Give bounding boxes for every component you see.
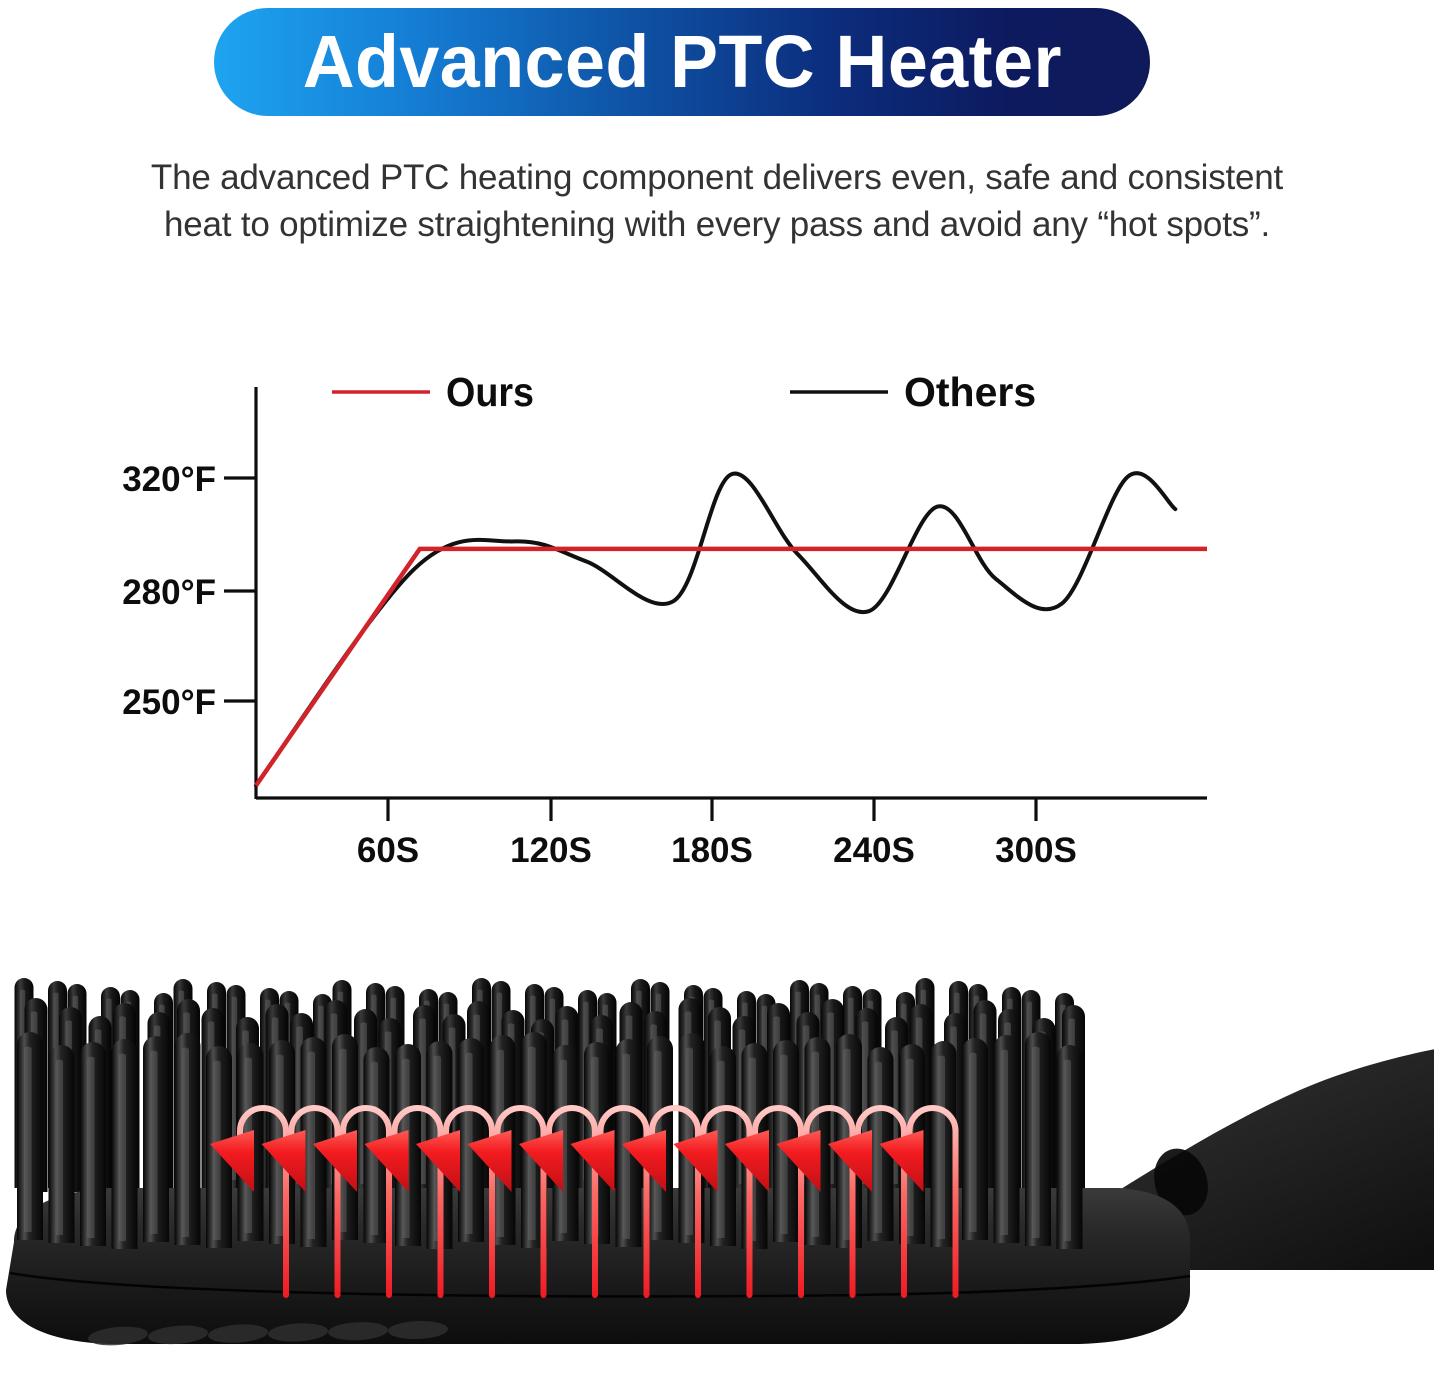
title-pill: Advanced PTC Heater (214, 8, 1150, 116)
bristle-highlight (969, 1053, 976, 1232)
x-axis-label-60s: 60S (357, 831, 419, 870)
bristle-highlight (56, 1060, 63, 1235)
bristle-highlight (308, 1052, 315, 1239)
x-axis-ticks: 60S 120S 180S 240S 300S (357, 798, 1077, 870)
legend-label-ours: Ours (446, 370, 534, 416)
series-line-others (256, 473, 1175, 785)
bristle-highlight (1064, 1060, 1071, 1241)
chart-legend: Ours Others (332, 369, 1036, 415)
legend-label-others: Others (904, 369, 1036, 415)
subtitle-line-1: The advanced PTC heating component deliv… (50, 155, 1384, 202)
bristle-highlight (119, 1054, 126, 1241)
bristle-highlight (24, 1047, 31, 1232)
x-axis-label-300s: 300S (995, 831, 1077, 870)
bristle-highlight (717, 1061, 724, 1238)
bristle-highlight (182, 1048, 189, 1237)
bristle-highlight (1032, 1047, 1039, 1238)
y-axis-ticks: 320°F 280°F 250°F (122, 460, 256, 722)
chart-axes (256, 387, 1207, 799)
product-photo-svg (0, 940, 1434, 1375)
chart-svg: Ours Others 320°F 280°F 250°F 60S 12 (0, 330, 1434, 890)
bristle-highlight (938, 1056, 945, 1239)
x-axis-label-120s: 120S (510, 831, 592, 870)
header-banner: Advanced PTC Heater (0, 0, 1434, 130)
page-title: Advanced PTC Heater (302, 25, 1061, 99)
y-axis-label-320: 320°F (122, 460, 216, 499)
bristle-highlight (875, 1062, 882, 1233)
bristle-highlight (150, 1051, 157, 1234)
bristle-highlight (1001, 1050, 1008, 1235)
y-axis-label-280: 280°F (122, 573, 216, 612)
subtitle-line-2: heat to optimize straightening with ever… (50, 202, 1384, 249)
temperature-comparison-chart: Ours Others 320°F 280°F 250°F 60S 12 (0, 330, 1434, 890)
y-axis-label-250: 250°F (122, 683, 216, 722)
bristle-highlight (87, 1057, 94, 1238)
x-axis-label-240s: 240S (833, 831, 915, 870)
x-axis-label-180s: 180S (671, 831, 753, 870)
product-photo (0, 940, 1434, 1375)
subtitle-paragraph: The advanced PTC heating component deliv… (50, 155, 1384, 248)
